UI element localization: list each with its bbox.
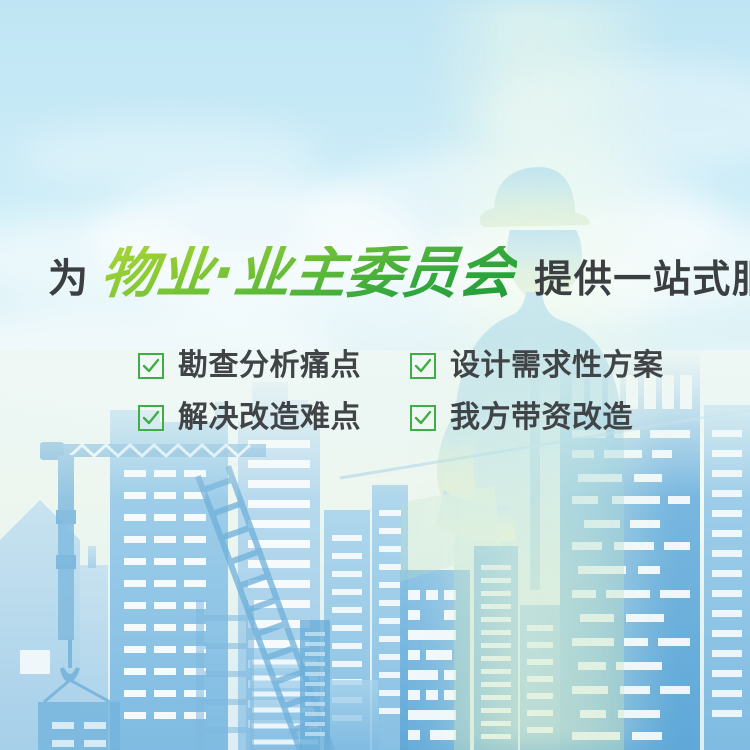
feature-label: 设计需求性方案 bbox=[450, 351, 664, 381]
headline-suffix: 提供一站式服务 bbox=[534, 261, 750, 299]
feature-list: 勘查分析痛点 设计需求性方案 解决改造难点 bbox=[138, 340, 682, 444]
checkbox-check-icon[interactable] bbox=[410, 405, 436, 431]
headline: 为 物业·业主委员会 提供一站式服务 bbox=[48, 246, 750, 302]
worker-silhouette bbox=[398, 150, 698, 750]
feature-label: 我方带资改造 bbox=[450, 403, 633, 433]
feature-item[interactable]: 解决改造难点 bbox=[138, 392, 410, 444]
feature-item[interactable]: 设计需求性方案 bbox=[410, 340, 682, 392]
promo-banner: 为 物业·业主委员会 提供一站式服务 勘查分析痛点 设计需求性方案 bbox=[0, 0, 750, 750]
checkbox-check-icon[interactable] bbox=[410, 353, 436, 379]
checkbox-check-icon[interactable] bbox=[138, 353, 164, 379]
headline-highlight: 物业·业主委员会 bbox=[96, 246, 519, 302]
feature-label: 勘查分析痛点 bbox=[178, 351, 361, 381]
feature-item[interactable]: 勘查分析痛点 bbox=[138, 340, 410, 392]
cloud bbox=[20, 120, 320, 190]
checkbox-check-icon[interactable] bbox=[138, 405, 164, 431]
feature-item[interactable]: 我方带资改造 bbox=[410, 392, 682, 444]
feature-label: 解决改造难点 bbox=[178, 403, 361, 433]
headline-prefix: 为 bbox=[48, 259, 89, 299]
